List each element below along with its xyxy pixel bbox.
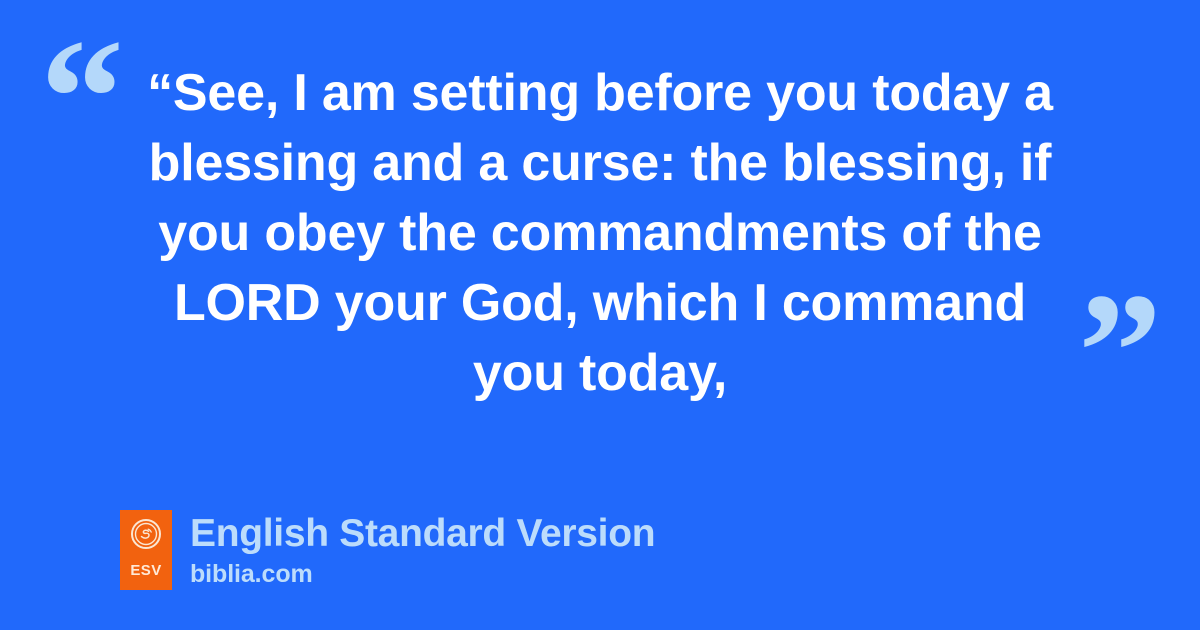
- esv-badge: ESV: [120, 510, 172, 590]
- attribution-block: ESV English Standard Version biblia.com: [120, 510, 655, 590]
- esv-seal-icon: [131, 519, 161, 549]
- verse-line: “See, I am setting before you today a: [96, 58, 1104, 128]
- attribution-text-group: English Standard Version biblia.com: [190, 510, 655, 589]
- verse-text: “See, I am setting before you today a bl…: [96, 58, 1104, 408]
- verse-line: blessing and a curse: the blessing, if: [96, 128, 1104, 198]
- verse-line: LORD your God, which I command: [96, 268, 1104, 338]
- verse-line: you today,: [96, 338, 1104, 408]
- bible-verse-card: “ ” “See, I am setting before you today …: [0, 0, 1200, 630]
- site-url-label[interactable]: biblia.com: [190, 559, 655, 589]
- verse-line: you obey the commandments of the: [96, 198, 1104, 268]
- esv-badge-abbreviation: ESV: [130, 562, 161, 579]
- bible-version-name: English Standard Version: [190, 511, 655, 557]
